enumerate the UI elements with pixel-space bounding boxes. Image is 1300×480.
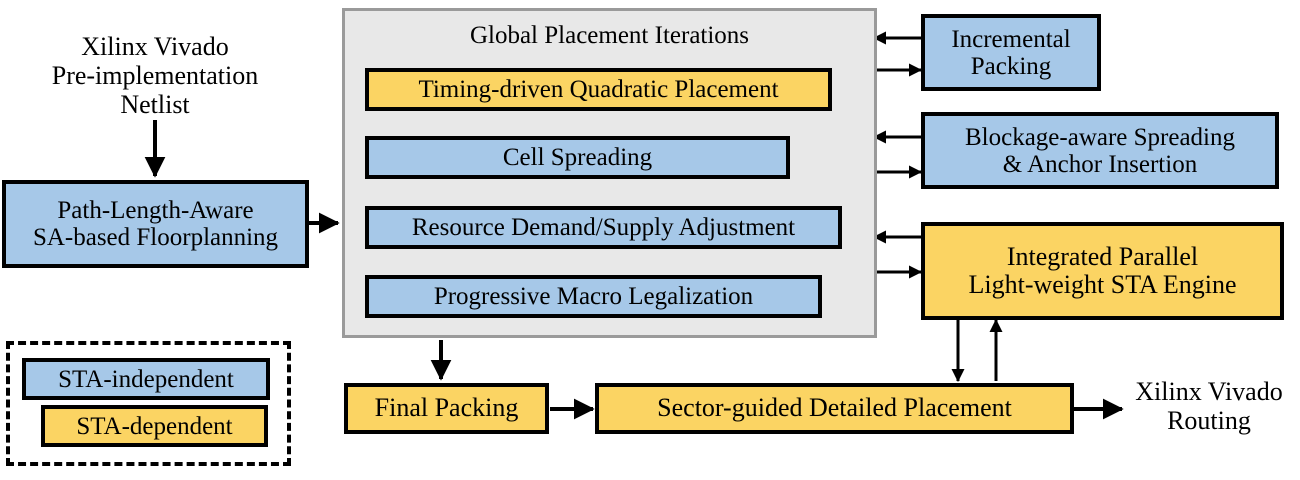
node-floorplanning[interactable]: Path-Length-Aware SA-based Floorplanning (2, 180, 309, 268)
node-final-packing[interactable]: Final Packing (344, 383, 549, 434)
node-detailed-placement[interactable]: Sector-guided Detailed Placement (595, 383, 1074, 434)
input-netlist-label: Xilinx Vivado Pre-implementation Netlist (30, 32, 280, 119)
legend-sta-independent: STA-independent (22, 358, 270, 400)
node-blockage-spreading[interactable]: Blockage-aware Spreading & Anchor Insert… (921, 112, 1279, 189)
node-resource-adjustment[interactable]: Resource Demand/Supply Adjustment (365, 206, 842, 249)
node-cell-spreading[interactable]: Cell Spreading (365, 136, 790, 179)
node-macro-legalization[interactable]: Progressive Macro Legalization (365, 275, 822, 318)
legend-sta-dependent: STA-dependent (41, 405, 268, 447)
output-routing-label: Xilinx Vivado Routing (1120, 377, 1298, 435)
node-quadratic-placement[interactable]: Timing-driven Quadratic Placement (365, 68, 832, 111)
node-incremental-packing[interactable]: Incremental Packing (921, 14, 1101, 91)
flow-diagram: Xilinx Vivado Pre-implementation Netlist… (0, 0, 1300, 480)
node-sta-engine[interactable]: Integrated Parallel Light-weight STA Eng… (921, 222, 1284, 320)
global-placement-panel-label: Global Placement Iterations (352, 22, 867, 50)
